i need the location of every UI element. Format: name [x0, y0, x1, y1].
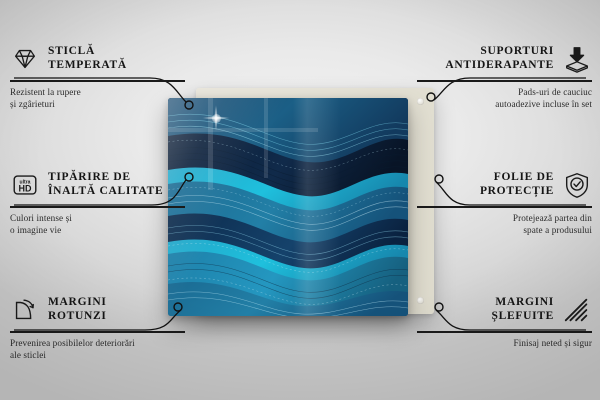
- diamond-icon: [10, 44, 40, 74]
- feature-title: FOLIE DE PROTECȚIE: [480, 171, 554, 198]
- feature-title: SUPORTURI ANTIDERAPANTE: [445, 45, 554, 72]
- feature-header: MARGINI ȘLEFUITE: [417, 293, 592, 327]
- feature-title: MARGINI ȘLEFUITE: [492, 296, 554, 323]
- svg-text:HD: HD: [19, 184, 32, 194]
- feature-divider: [10, 331, 185, 333]
- feature-divider: [417, 206, 592, 208]
- ultra-hd-icon: ultra HD: [10, 170, 40, 200]
- feature-description: Finisaj neted și sigur: [417, 337, 592, 349]
- product-image: [168, 88, 436, 320]
- feature-divider: [10, 206, 185, 208]
- feature-description: Culori intense și o imagine vie: [10, 212, 185, 236]
- feature-description: Rezistent la rupere și zgârieturi: [10, 86, 185, 110]
- feature-callout-tiparire-inalta-calitate[interactable]: ultra HD TIPĂRIRE DE ÎNALTĂ CALITATE Cul…: [10, 168, 185, 236]
- press-pad-icon: [562, 44, 592, 74]
- feature-header: STICLĂ TEMPERATĂ: [10, 42, 185, 76]
- hatched-triangle-icon: [562, 295, 592, 325]
- feature-header: ultra HD TIPĂRIRE DE ÎNALTĂ CALITATE: [10, 168, 185, 202]
- feature-divider: [417, 331, 592, 333]
- feature-callout-margini-rotunzi[interactable]: MARGINI ROTUNZI Prevenirea posibilelor d…: [10, 293, 185, 361]
- feature-header: SUPORTURI ANTIDERAPANTE: [417, 42, 592, 76]
- rounded-corner-icon: [10, 295, 40, 325]
- feature-header: MARGINI ROTUNZI: [10, 293, 185, 327]
- feature-callout-sticla-temperata[interactable]: STICLĂ TEMPERATĂ Rezistent la rupere și …: [10, 42, 185, 110]
- feature-description: Protejează partea din spate a produsului: [417, 212, 592, 236]
- feature-callout-margini-slefuite[interactable]: MARGINI ȘLEFUITE Finisaj neted și sigur: [417, 293, 592, 349]
- feature-divider: [417, 80, 592, 82]
- feature-description: Prevenirea posibilelor deteriorări ale s…: [10, 337, 185, 361]
- feature-title: TIPĂRIRE DE ÎNALTĂ CALITATE: [48, 171, 163, 198]
- feature-header: FOLIE DE PROTECȚIE: [417, 168, 592, 202]
- infographic-canvas: STICLĂ TEMPERATĂ Rezistent la rupere și …: [0, 0, 600, 400]
- feature-description: Pads-uri de cauciuc autoadezive incluse …: [417, 86, 592, 110]
- feature-callout-suporturi-antiderapante[interactable]: SUPORTURI ANTIDERAPANTE Pads-uri de cauc…: [417, 42, 592, 110]
- feature-callout-folie-de-protectie[interactable]: FOLIE DE PROTECȚIE Protejează partea din…: [417, 168, 592, 236]
- feature-title: MARGINI ROTUNZI: [48, 296, 107, 323]
- glass-panel: [168, 98, 408, 316]
- feature-title: STICLĂ TEMPERATĂ: [48, 45, 127, 72]
- feature-divider: [10, 80, 185, 82]
- wave-pattern-graphic: [168, 98, 408, 316]
- shield-check-icon: [562, 170, 592, 200]
